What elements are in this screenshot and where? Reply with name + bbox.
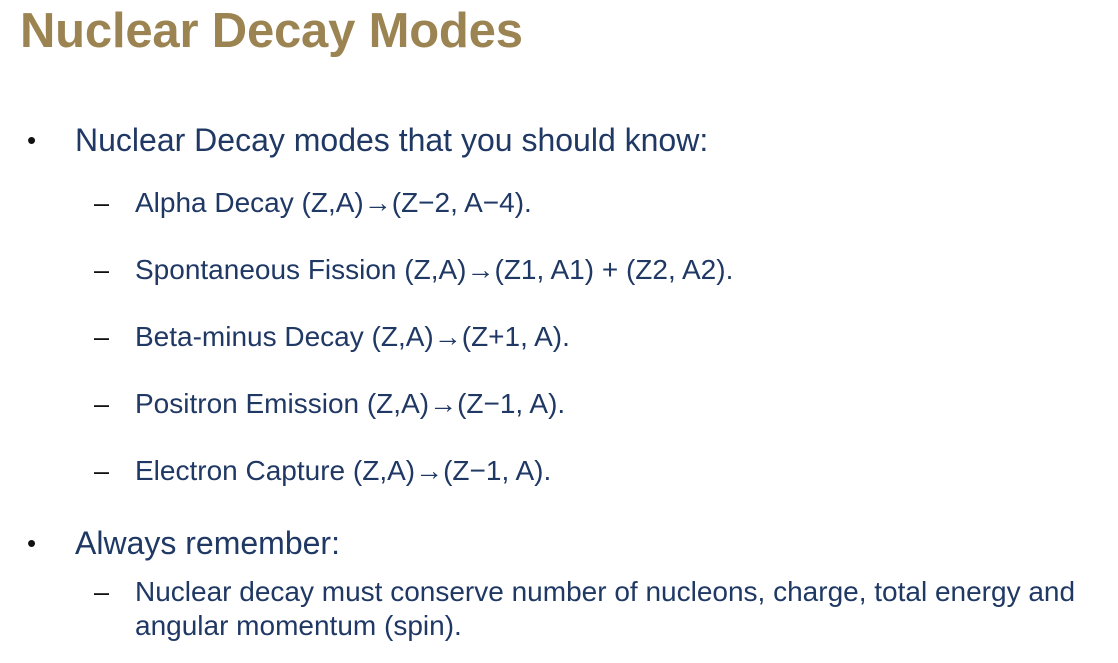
list-item-level2: – Nuclear decay must conserve number of … <box>0 575 1118 643</box>
bullet-dash-icon: – <box>94 575 120 609</box>
list-item-text: Always remember: <box>75 521 1118 565</box>
list-item-text: Positron Emission (Z,A)→(Z−1, A). <box>135 387 1118 421</box>
list-item-level2: – Positron Emission (Z,A)→(Z−1, A). <box>0 387 1118 421</box>
list-item-text: Spontaneous Fission (Z,A)→(Z1, A1) + (Z2… <box>135 253 1118 287</box>
list-item-text: Beta-minus Decay (Z,A)→(Z+1, A). <box>135 320 1118 354</box>
spacer <box>0 287 1118 320</box>
slide-body-list: • Nuclear Decay modes that you should kn… <box>0 118 1118 643</box>
bullet-dash-icon: – <box>94 454 120 488</box>
page-title: Nuclear Decay Modes <box>20 0 523 62</box>
list-item-level2: – Electron Capture (Z,A)→(Z−1, A). <box>0 454 1118 488</box>
bullet-dot-icon: • <box>27 118 45 162</box>
spacer <box>0 567 1118 575</box>
bullet-dash-icon: – <box>94 186 120 220</box>
list-item-level2: – Alpha Decay (Z,A)→(Z−2, A−4). <box>0 186 1118 220</box>
bullet-dash-icon: – <box>94 253 120 287</box>
list-item-text: Electron Capture (Z,A)→(Z−1, A). <box>135 454 1118 488</box>
spacer <box>0 488 1118 521</box>
bullet-dash-icon: – <box>94 320 120 354</box>
list-item-text: Nuclear decay must conserve number of nu… <box>135 575 1118 643</box>
list-item-level1: • Nuclear Decay modes that you should kn… <box>0 118 1118 162</box>
slide-canvas: Nuclear Decay Modes • Nuclear Decay mode… <box>0 0 1118 663</box>
list-item-text: Nuclear Decay modes that you should know… <box>75 118 1118 162</box>
list-item-level1: • Always remember: <box>0 521 1118 565</box>
list-item-level2: – Spontaneous Fission (Z,A)→(Z1, A1) + (… <box>0 253 1118 287</box>
bullet-dash-icon: – <box>94 387 120 421</box>
bullet-dot-icon: • <box>27 521 45 565</box>
list-item-level2: – Beta-minus Decay (Z,A)→(Z+1, A). <box>0 320 1118 354</box>
spacer <box>0 354 1118 387</box>
spacer <box>0 220 1118 253</box>
spacer <box>0 421 1118 454</box>
spacer <box>0 164 1118 186</box>
list-item-text: Alpha Decay (Z,A)→(Z−2, A−4). <box>135 186 1118 220</box>
